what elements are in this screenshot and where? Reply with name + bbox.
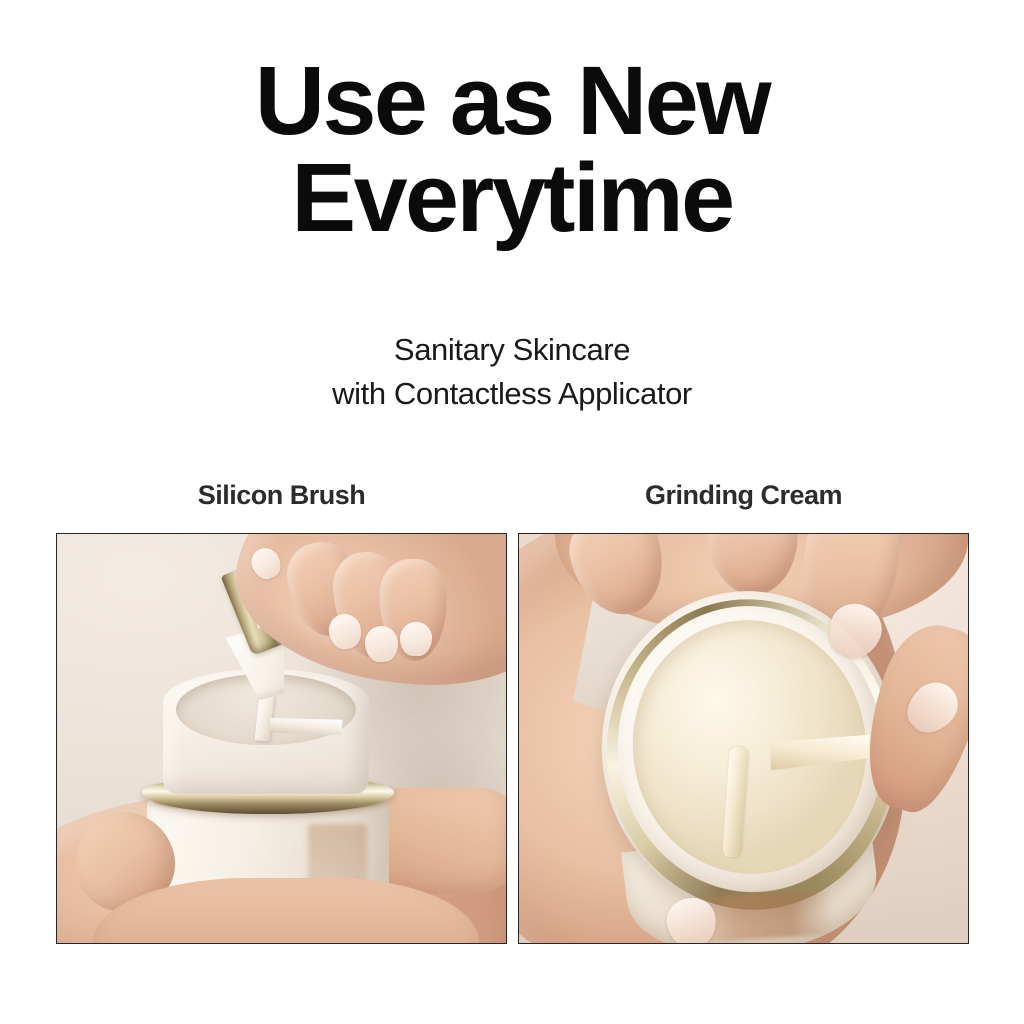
photo-caption-grinding-cream: Grinding Cream (518, 479, 969, 511)
page-subtitle: Sanitary Skincare with Contactless Appli… (0, 328, 1024, 416)
promo-page: Use as New Everytime Sanitary Skincare w… (0, 0, 1024, 1024)
page-subtitle-line-1: Sanitary Skincare (0, 328, 1024, 372)
page-title-line-2: Everytime (0, 149, 1024, 246)
page-title: Use as New Everytime (0, 52, 1024, 246)
page-title-line-1: Use as New (0, 52, 1024, 149)
photo-silicon-brush-scene (57, 534, 506, 943)
photo-grinding-cream-scene (519, 534, 968, 943)
photo-caption-silicon-brush: Silicon Brush (56, 479, 507, 511)
photo-grinding-cream (518, 533, 969, 944)
page-subtitle-line-2: with Contactless Applicator (0, 372, 1024, 416)
photo-silicon-brush (56, 533, 507, 944)
